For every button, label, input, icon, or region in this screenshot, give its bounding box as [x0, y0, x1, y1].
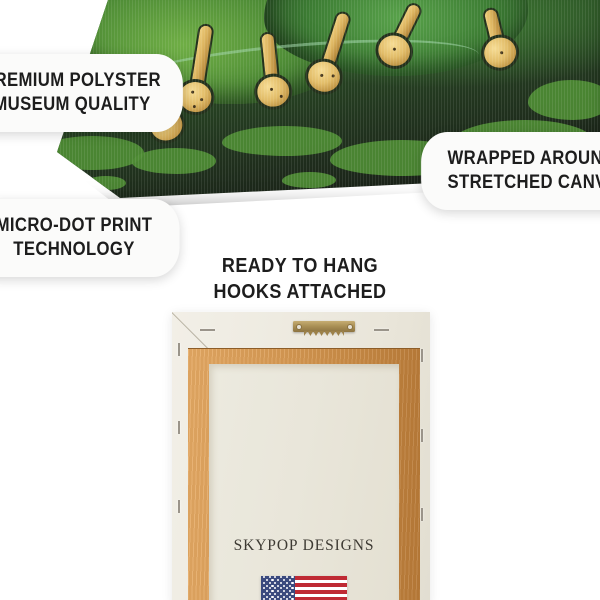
flag-star — [277, 579, 279, 581]
flag-star — [286, 576, 288, 578]
flag-star — [266, 585, 268, 587]
flag-star — [269, 582, 271, 584]
ready-to-hang-headline: READY TO HANG HOOKS ATTACHED — [0, 253, 600, 306]
staple-mark — [421, 429, 423, 442]
flag-star — [280, 593, 282, 595]
flag-star — [286, 593, 288, 595]
wooden-stretcher-frame: SKYPOP DESIGNS — [188, 348, 420, 600]
feature-badge-wrapped-around: WRAPPED AROUND STRETCHED CANVAS — [421, 132, 600, 210]
staple-mark — [200, 329, 215, 331]
flag-star — [263, 576, 265, 578]
product-feature-image: PREMIUM POLYSTER MUSEUM QUALITY WRAPPED … — [0, 0, 600, 600]
flag-star — [280, 576, 282, 578]
headline-line-1: READY TO HANG — [30, 253, 570, 279]
green-splash — [36, 136, 144, 170]
flag-star — [291, 582, 293, 584]
flag-star — [280, 587, 282, 589]
flag-canton — [261, 576, 295, 600]
feature-badge-premium-polyster: PREMIUM POLYSTER MUSEUM QUALITY — [0, 54, 183, 132]
flag-star — [289, 596, 291, 598]
staple-mark — [178, 421, 180, 434]
flag-star — [271, 590, 273, 592]
green-splash — [132, 148, 216, 174]
flag-star — [266, 596, 268, 598]
headline-line-2: HOOKS ATTACHED — [30, 279, 570, 305]
flag-star — [283, 596, 285, 598]
flag-star — [266, 579, 268, 581]
flag-star — [291, 587, 293, 589]
flag-star — [291, 593, 293, 595]
badge-line-1: PREMIUM POLYSTER — [0, 69, 161, 93]
staple-mark — [421, 508, 423, 521]
canvas-back-surface: SKYPOP DESIGNS — [209, 364, 399, 600]
flag-star — [263, 587, 265, 589]
flag-star — [269, 576, 271, 578]
green-splash — [84, 176, 126, 190]
flag-star — [274, 593, 276, 595]
flag-star — [274, 582, 276, 584]
staple-mark — [178, 343, 180, 356]
flag-star — [291, 576, 293, 578]
flag-star — [266, 590, 268, 592]
flag-star — [274, 587, 276, 589]
flag-star — [277, 596, 279, 598]
sawtooth-hanger-icon — [293, 321, 355, 336]
flag-star — [271, 596, 273, 598]
flag-star — [283, 579, 285, 581]
brand-name-label: SKYPOP DESIGNS — [209, 537, 399, 555]
green-splash — [282, 172, 336, 188]
staple-mark — [178, 500, 180, 513]
flag-star — [271, 585, 273, 587]
flag-star — [289, 585, 291, 587]
flag-star — [269, 593, 271, 595]
flag-star — [277, 590, 279, 592]
flag-star — [263, 593, 265, 595]
flag-star — [271, 579, 273, 581]
flag-star — [286, 587, 288, 589]
flag-star — [289, 579, 291, 581]
hanger-screw-hole — [347, 324, 353, 330]
flag-star — [289, 590, 291, 592]
badge-line-1: MICRO-DOT PRINT — [0, 214, 152, 238]
badge-line-2: MUSEUM QUALITY — [0, 93, 151, 117]
canvas-back-mockup: SKYPOP DESIGNS — [172, 312, 430, 600]
badge-line-1: WRAPPED AROUND — [432, 147, 600, 171]
flag-star — [269, 587, 271, 589]
staple-mark — [374, 329, 389, 331]
flag-star — [280, 582, 282, 584]
flag-star — [274, 576, 276, 578]
badge-line-2: STRETCHED CANVAS — [432, 171, 600, 195]
green-splash — [222, 126, 342, 156]
staple-mark — [421, 349, 423, 362]
flag-star — [286, 582, 288, 584]
flag-star — [283, 585, 285, 587]
flag-star — [277, 585, 279, 587]
flag-star — [283, 590, 285, 592]
hanger-screw-hole — [296, 324, 302, 330]
flag-star — [263, 582, 265, 584]
united-states-flag-icon — [261, 576, 347, 600]
